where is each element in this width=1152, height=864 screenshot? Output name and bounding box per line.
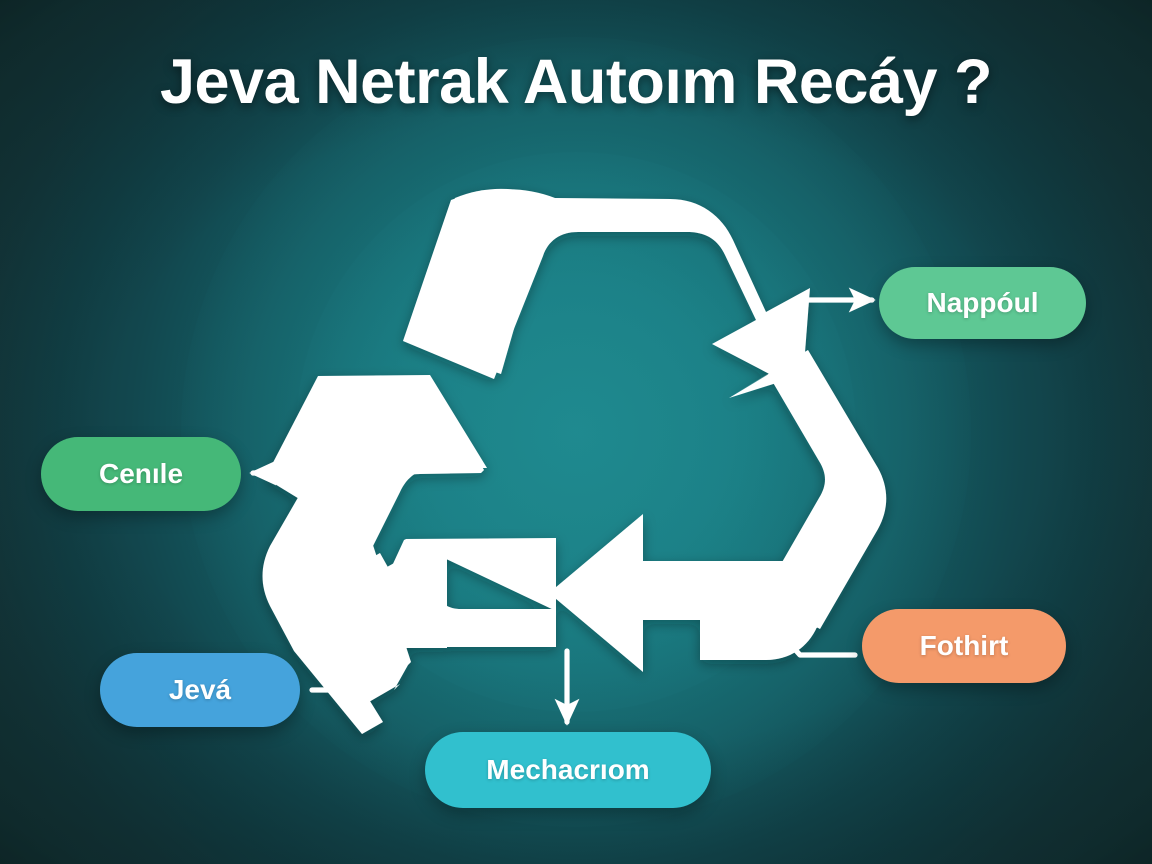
- node-label-nappoul: Nappóul: [927, 287, 1039, 319]
- node-jeva[interactable]: Jevá: [100, 653, 300, 727]
- node-label-mechacriom: Mechacrıom: [486, 754, 649, 786]
- node-label-cenile: Cenıle: [99, 458, 183, 490]
- node-fothirt[interactable]: Fothirt: [862, 609, 1066, 683]
- node-label-jeva: Jevá: [169, 674, 231, 706]
- node-label-fothirt: Fothirt: [920, 630, 1009, 662]
- diagram-canvas: Jeva Netrak Autoım Recáy ?: [0, 0, 1152, 864]
- node-cenile[interactable]: Cenıle: [41, 437, 241, 511]
- node-nappoul[interactable]: Nappóul: [879, 267, 1086, 339]
- node-mechacriom[interactable]: Mechacrıom: [425, 732, 711, 808]
- recycling-symbol: [263, 189, 887, 734]
